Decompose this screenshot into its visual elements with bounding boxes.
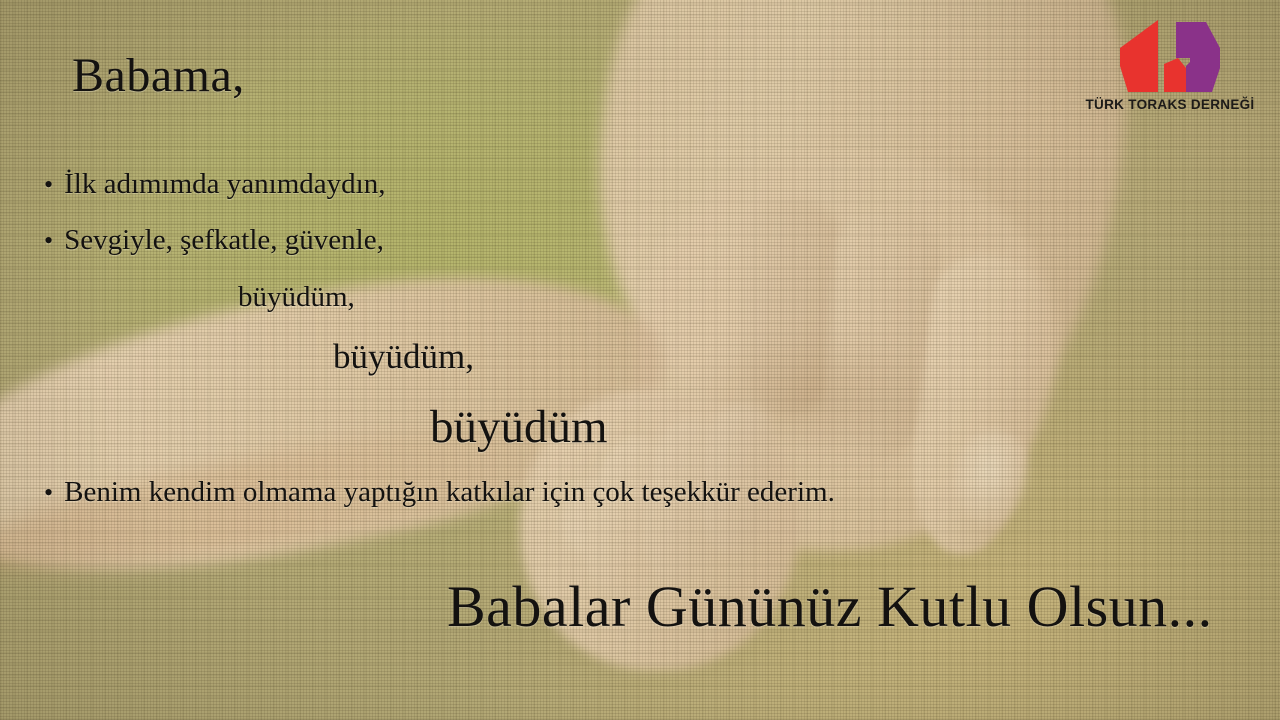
closing-message: Babalar Gününüz Kutlu Olsun... bbox=[447, 578, 1213, 636]
list-item: • Sevgiyle, şefkatle, güvenle, bbox=[44, 224, 384, 257]
list-item: • Benim kendim olmama yaptığın katkılar … bbox=[44, 476, 835, 509]
page-title: Babama, bbox=[72, 52, 245, 100]
growing-line-large: büyüdüm bbox=[430, 404, 608, 451]
organization-logo: TÜRK TORAKS DERNEĞİ bbox=[1082, 18, 1258, 122]
growing-line-medium: büyüdüm, bbox=[333, 339, 474, 374]
list-item-label: Sevgiyle, şefkatle, güvenle, bbox=[64, 224, 384, 257]
bullet-icon: • bbox=[44, 480, 53, 506]
logo-wordmark: TÜRK TORAKS DERNEĞİ bbox=[1082, 97, 1258, 112]
list-item-label: Benim kendim olmama yaptığın katkılar iç… bbox=[64, 476, 835, 509]
lungs-icon bbox=[1114, 18, 1226, 94]
greeting-card-slide: Babama, • İlk adımımda yanımdaydın, • Se… bbox=[0, 0, 1280, 720]
bullet-icon: • bbox=[44, 172, 53, 198]
bullet-icon: • bbox=[44, 228, 53, 254]
list-item: • İlk adımımda yanımdaydın, bbox=[44, 168, 385, 201]
growing-line-small: büyüdüm, bbox=[238, 283, 355, 312]
list-item-label: İlk adımımda yanımdaydın, bbox=[64, 168, 385, 201]
